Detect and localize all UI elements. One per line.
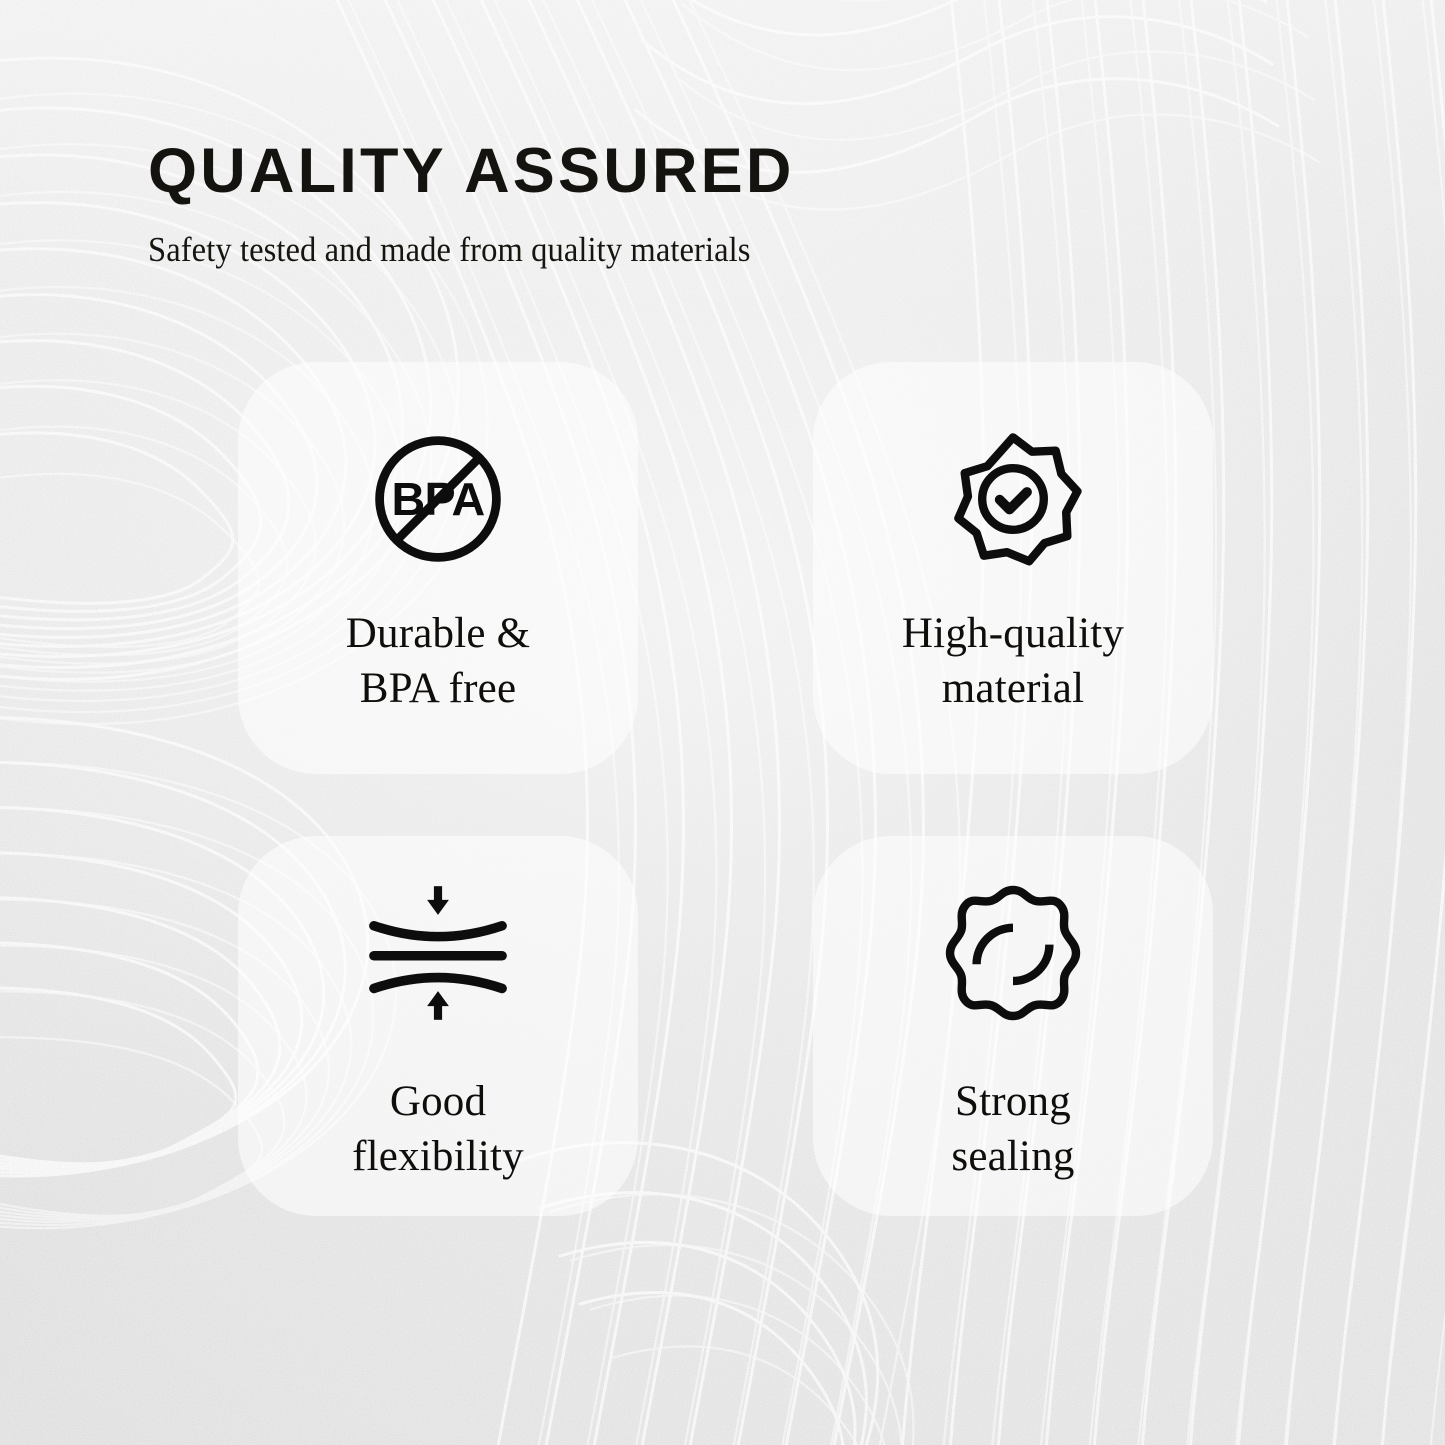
seal-icon <box>938 878 1088 1028</box>
svg-text:BPA: BPA <box>392 473 485 525</box>
feature-label-line-1: Strong <box>951 1074 1074 1129</box>
feature-card-durable-bpa-free: BPA Durable & BPA free <box>238 362 638 774</box>
feature-card-label: Strong sealing <box>951 1074 1074 1184</box>
feature-label-line-1: Durable & <box>346 606 531 661</box>
page-subtitle: Safety tested and made from quality mate… <box>148 203 1218 270</box>
feature-card-label: High-quality material <box>902 606 1124 716</box>
quality-assured-infographic: QUALITY ASSURED Safety tested and made f… <box>0 0 1445 1445</box>
feature-card-grid: BPA Durable & BPA free High-quality mate… <box>238 362 1213 1216</box>
bpa-free-icon: BPA <box>363 424 513 574</box>
feature-card-label: Durable & BPA free <box>346 606 531 716</box>
feature-card-high-quality-material: High-quality material <box>813 362 1213 774</box>
quality-badge-check-icon <box>938 424 1088 574</box>
feature-card-strong-sealing: Strong sealing <box>813 836 1213 1216</box>
feature-card-label: Good flexibility <box>352 1074 524 1184</box>
feature-label-line-1: High-quality <box>902 606 1124 661</box>
feature-label-line-2: flexibility <box>352 1129 524 1184</box>
feature-card-good-flexibility: Good flexibility <box>238 836 638 1216</box>
feature-label-line-2: sealing <box>951 1129 1074 1184</box>
header: QUALITY ASSURED Safety tested and made f… <box>148 140 1298 270</box>
feature-label-line-1: Good <box>352 1074 524 1129</box>
page-title: QUALITY ASSURED <box>148 140 1298 203</box>
flexibility-compression-icon <box>363 878 513 1028</box>
feature-label-line-2: material <box>902 661 1124 716</box>
feature-label-line-2: BPA free <box>346 661 531 716</box>
